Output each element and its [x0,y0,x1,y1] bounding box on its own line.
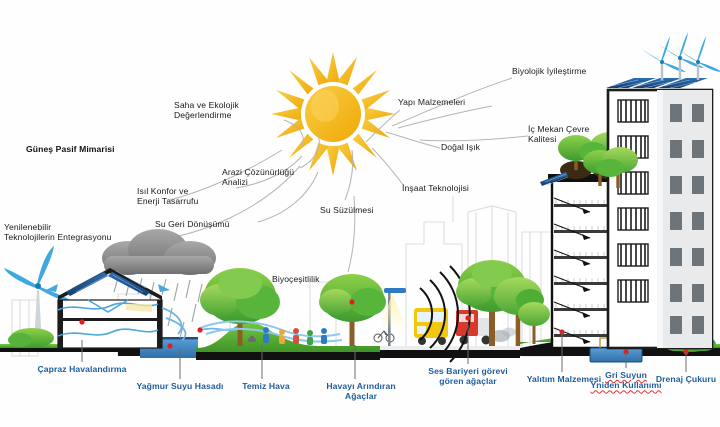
bicycle-icon [374,331,394,342]
solar-house-icon [46,268,170,348]
concept-label-gunes-pasif-mimarisi: Güneş Pasif Mimarisi [26,144,156,154]
concept-label-arazi-cozunurlugu-analizi: Arazi Çözünürlüğü Analizi [222,167,326,188]
concept-label-saha-ve-ekolojik-degerlendirme: Saha ve Ekolojik Değerlendirme [174,100,284,121]
concept-label-isil-konfor-ve-enerji-tasarrufu: Isıl Konfor ve Enerji Tasarrufu [137,186,237,207]
tree-small-left-of-section [518,302,550,344]
greywater-tank [590,348,642,362]
concept-label-ic-mekan-cevre-kalitesi: İç Mekan Çevre Kalitesi [528,124,624,145]
concept-label-dogal-isik: Doğal Işık [441,142,503,152]
concept-label-biyolojik-iyilestirme: Biyolojik İyileştirme [512,66,620,76]
concept-label-biyocesitlilik: Biyoçeşitlilik [272,274,348,284]
feature-label-capraz-havalandirma: Çapraz Havalandırma [22,364,142,374]
rooftop-turbines-icon [640,32,720,80]
feature-label-havayi-arindiran-agaclar: Havayı Arındıran Ağaçlar [312,381,410,402]
feature-label-yagmur-suyu-hasadi: Yağmur Suyu Hasadı [122,381,238,391]
concept-label-su-suzulmesi: Su Süzülmesi [320,205,404,215]
hotspot-dot [167,343,172,348]
concept-label-insaat-teknolojisi: İnşaat Teknolojisi [402,183,498,193]
hotspot-dot [79,319,84,324]
infographic-canvas: Güneş Pasif MimarisiSaha ve Ekolojik Değ… [0,0,720,427]
concept-label-su-geri-donusumu: Su Geri Dönüşümü [155,219,259,229]
feature-label-ses-bariyeri-goren-agaclar: Ses Bariyeri görevi gören ağaçlar [416,366,520,387]
rooftop-solar-array [606,78,708,88]
tower-building-icon [606,32,720,348]
feature-label-temiz-hava: Temiz Hava [228,381,304,391]
concept-label-yenilenebilir-teknolojilerin-entegrasyonu: Yenilenebilir Teknolojilerin Entegrasyon… [4,222,154,243]
sun-icon [271,52,395,176]
concept-label-yapi-malzemeleri: Yapı Malzemeleri [398,97,494,107]
feature-label-drenaj-cukuru: Drenaj Çukuru [644,374,720,384]
shrub-left [8,328,54,348]
